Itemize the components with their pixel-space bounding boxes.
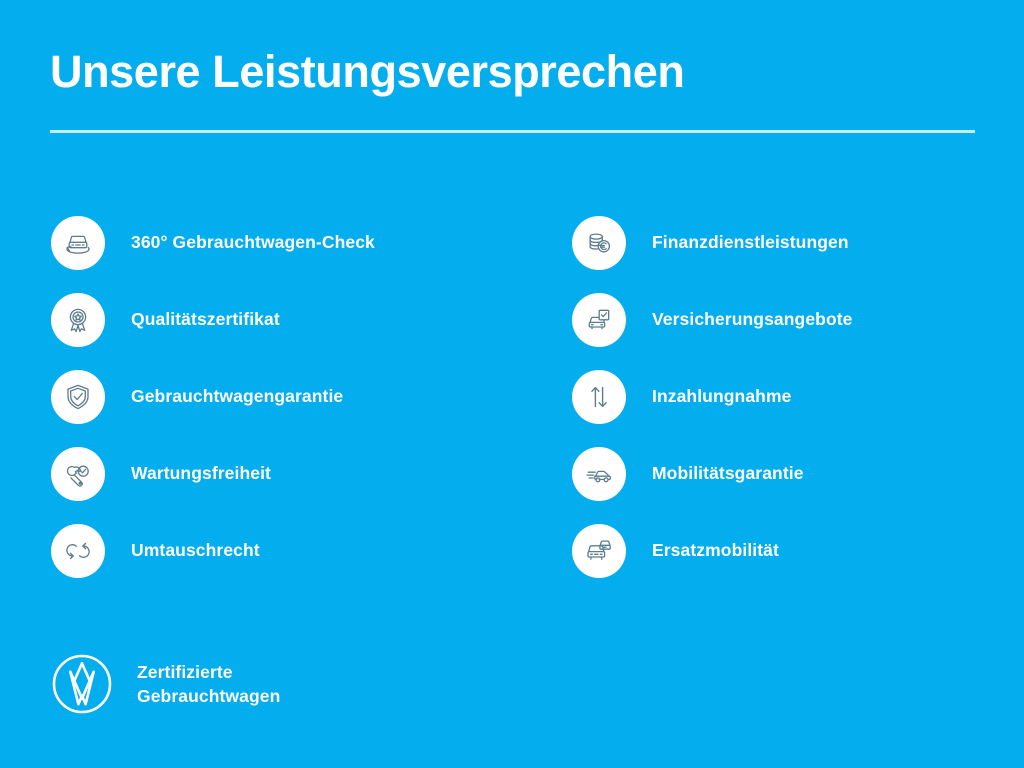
promise-label: Finanzdienstleistungen [652, 232, 849, 253]
shield-check-icon [51, 370, 105, 424]
promise-item-maintenance-free[interactable]: Wartungsfreiheit [51, 435, 481, 512]
brand-line-1: Zertifizierte [137, 660, 280, 684]
promises-left-column: 360° Gebrauchtwagen-Check Qualitätszerti… [51, 204, 481, 589]
promise-label: Qualitätszertifikat [131, 309, 280, 330]
promise-item-exchange-right[interactable]: Umtauschrecht [51, 512, 481, 589]
quality-seal-icon [51, 293, 105, 347]
promise-label: Ersatzmobilität [652, 540, 779, 561]
brand-line-2: Gebrauchtwagen [137, 684, 280, 708]
arrows-up-down-icon [572, 370, 626, 424]
promise-label: Mobilitätsgarantie [652, 463, 804, 484]
promise-item-replacement-mobility[interactable]: Ersatzmobilität [572, 512, 1002, 589]
page-header: Unsere Leistungsversprechen [50, 48, 976, 97]
brand-text: Zertifizierte Gebrauchtwagen [137, 660, 280, 708]
promise-item-trade-in[interactable]: Inzahlungnahme [572, 358, 1002, 435]
promise-item-insurance-offers[interactable]: Versicherungsangebote [572, 281, 1002, 358]
brand-lockup: Zertifizierte Gebrauchtwagen [51, 653, 280, 715]
exchange-arrows-icon [51, 524, 105, 578]
promise-label: Umtauschrecht [131, 540, 260, 561]
two-cars-icon [572, 524, 626, 578]
car-360-check-icon [51, 216, 105, 270]
promise-item-financial-services[interactable]: Finanzdienstleistungen [572, 204, 1002, 281]
wrench-check-icon [51, 447, 105, 501]
promise-label: 360° Gebrauchtwagen-Check [131, 232, 375, 253]
promise-label: Inzahlungnahme [652, 386, 791, 407]
promise-item-mobility-guarantee[interactable]: Mobilitätsgarantie [572, 435, 1002, 512]
promises-grid: 360° Gebrauchtwagen-Check Qualitätszerti… [0, 204, 1024, 574]
promises-page: Unsere Leistungsversprechen 3 [0, 0, 1024, 768]
promise-item-quality-certificate[interactable]: Qualitätszertifikat [51, 281, 481, 358]
promise-item-warranty[interactable]: Gebrauchtwagengarantie [51, 358, 481, 435]
header-divider [50, 130, 975, 133]
coins-euro-icon [572, 216, 626, 270]
promise-item-360-check[interactable]: 360° Gebrauchtwagen-Check [51, 204, 481, 281]
page-title: Unsere Leistungsversprechen [50, 48, 976, 97]
promise-label: Versicherungsangebote [652, 309, 853, 330]
car-speed-icon [572, 447, 626, 501]
promise-label: Gebrauchtwagengarantie [131, 386, 343, 407]
car-document-check-icon [572, 293, 626, 347]
volkswagen-logo [51, 653, 113, 715]
promises-right-column: Finanzdienstleistungen [572, 204, 1002, 589]
promise-label: Wartungsfreiheit [131, 463, 271, 484]
